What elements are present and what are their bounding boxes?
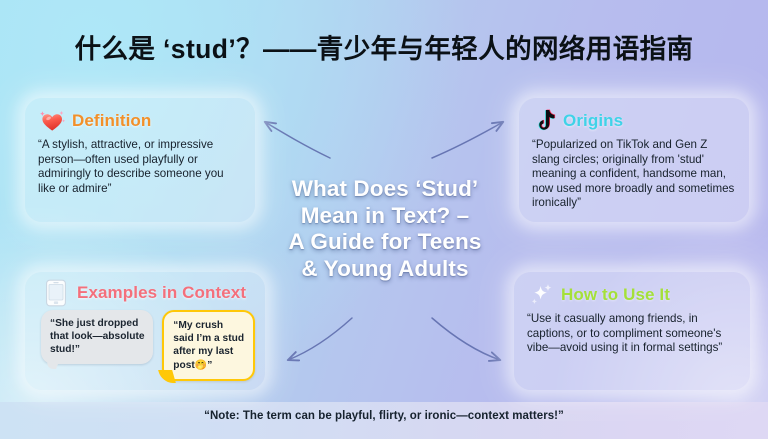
example-bubble-1[interactable]: “She just dropped that look—absolute stu… <box>41 310 153 364</box>
example-bubble-1-text: “She just dropped that look—absolute stu… <box>50 318 145 355</box>
card-examples-in-context[interactable]: Examples in Context “She just dropped th… <box>25 272 265 390</box>
card-origins-title: Origins <box>563 111 623 131</box>
card-examples-title: Examples in Context <box>77 283 246 303</box>
infographic-canvas: 什么是 ‘stud’？——青少年与年轻人的网络用语指南 What Does ‘S… <box>0 0 768 439</box>
sparkling-heart-icon <box>38 109 66 133</box>
example-bubble-2-quote-close: ” <box>207 360 212 371</box>
card-definition[interactable]: Definition “A stylish, attractive, or im… <box>25 98 255 222</box>
example-bubble-2[interactable]: “My crush said I’m a stud after my last … <box>162 310 255 381</box>
card-howto-title: How to Use It <box>561 285 670 305</box>
card-examples-header: Examples in Context <box>35 280 255 306</box>
face-with-hand-over-mouth-icon: 🤭 <box>195 360 207 371</box>
card-howto-body: “Use it casually among friends, in capti… <box>527 312 737 356</box>
card-origins-body: “Popularized on TikTok and Gen Z slang c… <box>532 138 736 211</box>
footer-note: “Note: The term can be playful, flirty, … <box>0 410 768 422</box>
card-definition-title: Definition <box>72 111 151 131</box>
center-headline-line-4: & Young Adults <box>256 256 514 283</box>
card-origins[interactable]: Origins “Popularized on TikTok and Gen Z… <box>519 98 749 222</box>
arrow-center-to-definition <box>265 122 330 158</box>
center-headline-line-2: Mean in Text? – <box>256 203 514 230</box>
card-howto-header: How to Use It <box>527 282 737 308</box>
center-headline-line-1: What Does ‘Stud’ <box>256 176 514 203</box>
sparkles-icon <box>527 282 555 308</box>
phone-icon <box>45 279 67 307</box>
card-definition-header: Definition <box>38 108 242 134</box>
tiktok-icon <box>532 108 557 134</box>
card-how-to-use-it[interactable]: How to Use It “Use it casually among fri… <box>514 272 750 390</box>
arrow-center-to-howto <box>432 318 500 360</box>
card-origins-header: Origins <box>532 108 736 134</box>
arrow-center-to-origins <box>432 122 503 158</box>
center-headline-line-3: A Guide for Teens <box>256 229 514 256</box>
center-headline: What Does ‘Stud’ Mean in Text? – A Guide… <box>256 176 514 282</box>
example-bubble-group: “She just dropped that look—absolute stu… <box>35 310 255 381</box>
page-title: 什么是 ‘stud’？——青少年与年轻人的网络用语指南 <box>0 27 768 66</box>
card-definition-body: “A stylish, attractive, or impressive pe… <box>38 138 242 196</box>
arrow-center-to-examples <box>288 318 352 360</box>
